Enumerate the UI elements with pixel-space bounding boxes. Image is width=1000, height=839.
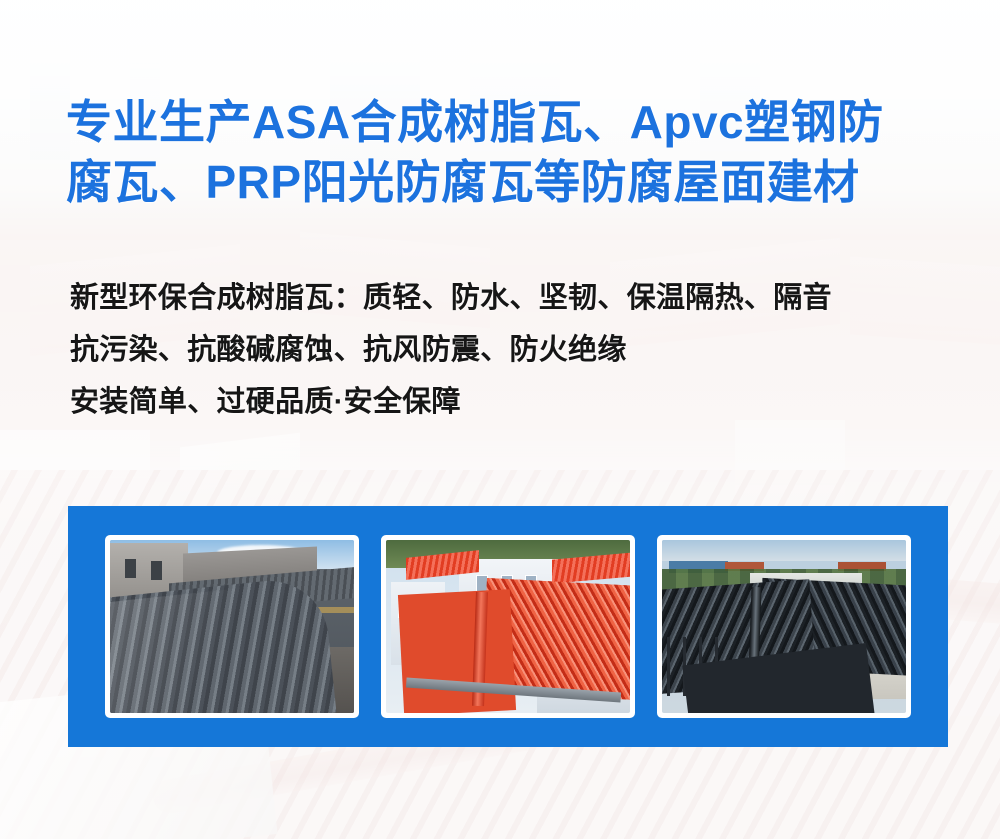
subheadline-line-3: 安装简单、过硬品质·安全保障 <box>70 376 960 428</box>
subheadline: 新型环保合成树脂瓦：质轻、防水、坚韧、保温隔热、隔音 抗污染、抗酸碱腐蚀、抗风防… <box>70 272 960 428</box>
headline: 专业生产ASA合成树脂瓦、Apvc塑钢防 腐瓦、PRP阳光防腐瓦等防腐屋面建材 <box>66 92 946 212</box>
subheadline-line-2: 抗污染、抗酸碱腐蚀、抗风防震、防火绝缘 <box>70 324 960 376</box>
grey-resin-tile-roof-photo <box>110 540 354 713</box>
red-resin-tile-roof-photo <box>386 540 630 713</box>
subheadline-line-1: 新型环保合成树脂瓦：质轻、防水、坚韧、保温隔热、隔音 <box>70 272 960 324</box>
photo-frame-3[interactable] <box>657 535 911 718</box>
photo-frame-1[interactable] <box>105 535 359 718</box>
headline-line-2: 腐瓦、PRP阳光防腐瓦等防腐屋面建材 <box>66 152 946 212</box>
promo-banner: 专业生产ASA合成树脂瓦、Apvc塑钢防 腐瓦、PRP阳光防腐瓦等防腐屋面建材 … <box>0 0 1000 839</box>
photo-frame-2[interactable] <box>381 535 635 718</box>
headline-line-1: 专业生产ASA合成树脂瓦、Apvc塑钢防 <box>66 92 946 152</box>
gallery-row <box>68 506 948 747</box>
gallery-panel <box>68 506 948 747</box>
black-resin-tile-roof-photo <box>662 540 906 713</box>
